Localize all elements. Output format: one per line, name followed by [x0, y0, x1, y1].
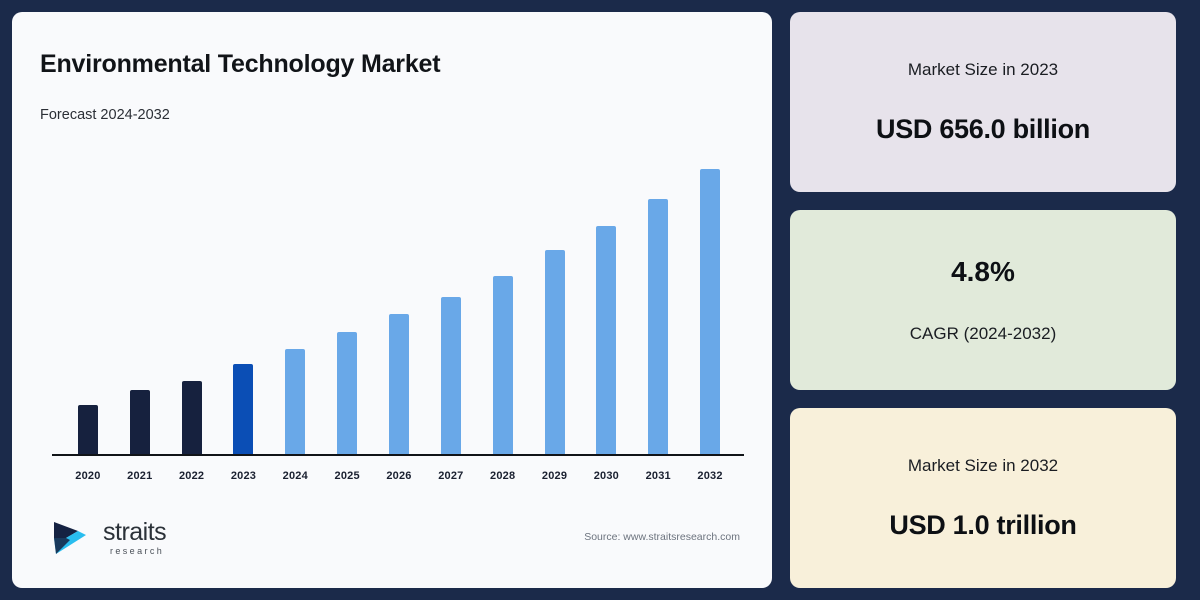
- logo-name: straits: [103, 520, 166, 545]
- bar-2020: [78, 405, 98, 454]
- x-tick-2031: 2031: [632, 470, 684, 482]
- bar-2027: [441, 297, 461, 454]
- stat-card-market-size-2023: Market Size in 2023 USD 656.0 billion: [790, 12, 1176, 192]
- bar-chart: 2020202120222023202420252026202720282029…: [40, 133, 744, 506]
- source-label: Source: www.straitsresearch.com: [584, 531, 740, 545]
- bar-2024: [285, 349, 305, 454]
- page-title: Environmental Technology Market: [40, 50, 744, 79]
- stat-card-market-size-2032: Market Size in 2032 USD 1.0 trillion: [790, 408, 1176, 588]
- x-tick-2025: 2025: [321, 470, 373, 482]
- arrow-logo-icon: [52, 518, 94, 558]
- bar-slot: [632, 154, 684, 454]
- logo-text: straits research: [103, 520, 166, 556]
- x-tick-2023: 2023: [218, 470, 270, 482]
- x-tick-2030: 2030: [580, 470, 632, 482]
- straits-research-logo: straits research: [52, 518, 166, 558]
- bar-slot: [684, 154, 736, 454]
- x-tick-2032: 2032: [684, 470, 736, 482]
- bar-slot: [580, 154, 632, 454]
- x-tick-2028: 2028: [477, 470, 529, 482]
- card-caption: Market Size in 2032: [908, 456, 1058, 476]
- chart-footer: straits research Source: www.straitsrese…: [40, 506, 744, 570]
- card-caption: Market Size in 2023: [908, 60, 1058, 80]
- bar-slot: [269, 154, 321, 454]
- card-value: USD 1.0 trillion: [889, 510, 1076, 541]
- card-value: 4.8%: [951, 256, 1015, 288]
- bar-2032: [700, 169, 720, 454]
- card-value: USD 656.0 billion: [876, 114, 1090, 145]
- bar-2022: [182, 381, 202, 454]
- x-tick-2024: 2024: [269, 470, 321, 482]
- bar-2031: [648, 199, 668, 454]
- bar-slot: [166, 154, 218, 454]
- bar-slot: [114, 154, 166, 454]
- bar-2026: [389, 314, 409, 454]
- bar-2028: [493, 276, 513, 454]
- bar-2029: [545, 250, 565, 454]
- x-tick-2029: 2029: [529, 470, 581, 482]
- bar-2025: [337, 332, 357, 454]
- x-tick-2021: 2021: [114, 470, 166, 482]
- bar-slot: [477, 154, 529, 454]
- bar-slot: [425, 154, 477, 454]
- card-caption: CAGR (2024-2032): [910, 324, 1056, 344]
- x-axis-labels: 2020202120222023202420252026202720282029…: [62, 470, 736, 482]
- x-tick-2026: 2026: [373, 470, 425, 482]
- bar-slot: [529, 154, 581, 454]
- bar-2023: [233, 364, 253, 454]
- bar-slot: [62, 154, 114, 454]
- x-tick-2020: 2020: [62, 470, 114, 482]
- x-tick-2027: 2027: [425, 470, 477, 482]
- bar-series: [62, 154, 736, 454]
- infographic-root: Environmental Technology Market Forecast…: [0, 0, 1200, 600]
- bar-2021: [130, 390, 150, 454]
- chart-panel: Environmental Technology Market Forecast…: [12, 12, 772, 588]
- x-tick-2022: 2022: [166, 470, 218, 482]
- stat-cards-column: Market Size in 2023 USD 656.0 billion 4.…: [790, 12, 1176, 588]
- bar-slot: [321, 154, 373, 454]
- chart-subtitle: Forecast 2024-2032: [40, 107, 744, 123]
- stat-card-cagr: 4.8% CAGR (2024-2032): [790, 210, 1176, 390]
- logo-tagline: research: [110, 547, 166, 556]
- bar-2030: [596, 226, 616, 454]
- bar-slot: [218, 154, 270, 454]
- bar-slot: [373, 154, 425, 454]
- x-axis-line: [52, 454, 744, 456]
